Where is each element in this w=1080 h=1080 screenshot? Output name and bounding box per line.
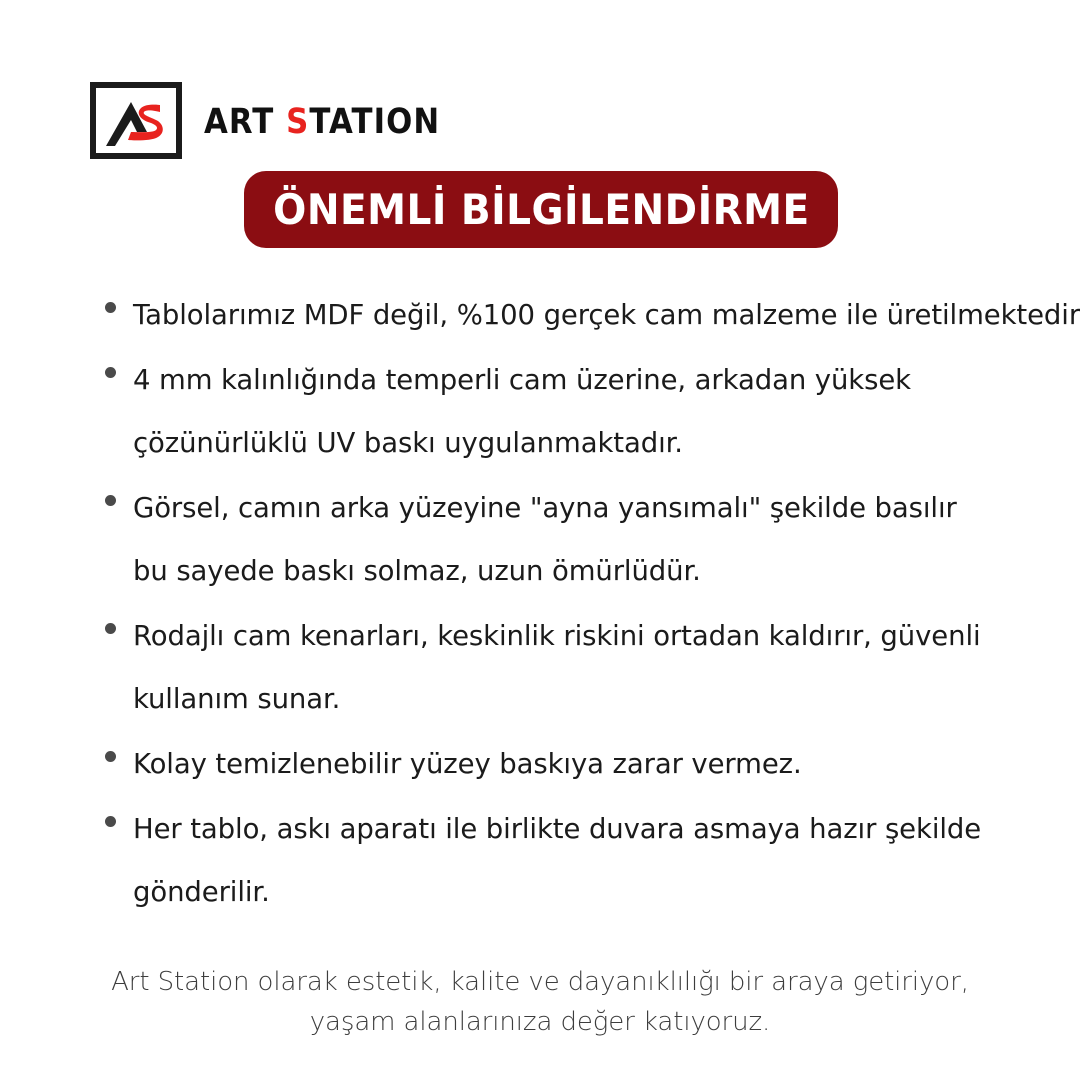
bullet-dot-icon xyxy=(105,816,116,827)
list-item-text: Rodajlı cam kenarları, keskinlik riskini… xyxy=(133,605,1030,668)
info-poster: ART STATION ÖNEMLİ BİLGİLENDİRME Tablola… xyxy=(0,0,1080,1080)
list-item: Her tablo, askı aparatı ile birlikte duv… xyxy=(100,798,1030,924)
list-item: Rodajlı cam kenarları, keskinlik riskini… xyxy=(100,605,1030,731)
list-item-text: kullanım sunar. xyxy=(133,668,1030,731)
bullet-dot-icon xyxy=(105,367,116,378)
wordmark-part-1: ART xyxy=(204,102,286,142)
list-item-text: bu sayede baskı solmaz, uzun ömürlüdür. xyxy=(133,540,1030,603)
brand-wordmark: ART STATION xyxy=(204,101,440,140)
list-item: Kolay temizlenebilir yüzey baskıya zarar… xyxy=(100,733,1030,796)
art-station-logo-icon xyxy=(90,82,182,159)
list-item-text: Görsel, camın arka yüzeyine "ayna yansım… xyxy=(133,477,1030,540)
info-bullet-list: Tablolarımız MDF değil, %100 gerçek cam … xyxy=(100,284,1030,926)
bullet-dot-icon xyxy=(105,302,116,313)
list-item-text: Her tablo, askı aparatı ile birlikte duv… xyxy=(133,798,1030,861)
list-item: 4 mm kalınlığında temperli cam üzerine, … xyxy=(100,349,1030,475)
brand-header: ART STATION xyxy=(90,82,472,159)
title-banner: ÖNEMLİ BİLGİLENDİRME xyxy=(244,171,838,248)
footer-line: Art Station olarak estetik, kalite ve da… xyxy=(0,962,1080,1002)
list-item: Tablolarımız MDF değil, %100 gerçek cam … xyxy=(100,284,1030,347)
bullet-dot-icon xyxy=(105,495,116,506)
list-item-text: 4 mm kalınlığında temperli cam üzerine, … xyxy=(133,349,1030,412)
list-item-text: çözünürlüklü UV baskı uygulanmaktadır. xyxy=(133,412,1030,475)
wordmark-accent-letter: S xyxy=(286,102,309,142)
banner-title: ÖNEMLİ BİLGİLENDİRME xyxy=(273,189,809,231)
footer-line: yaşam alanlarınıza değer katıyoruz. xyxy=(0,1002,1080,1042)
wordmark-part-2: TATION xyxy=(309,102,440,142)
list-item-text: gönderilir. xyxy=(133,861,1030,924)
bullet-dot-icon xyxy=(105,751,116,762)
list-item: Görsel, camın arka yüzeyine "ayna yansım… xyxy=(100,477,1030,603)
bullet-dot-icon xyxy=(105,623,116,634)
list-item-text: Kolay temizlenebilir yüzey baskıya zarar… xyxy=(133,733,1030,796)
list-item-text: Tablolarımız MDF değil, %100 gerçek cam … xyxy=(133,284,1030,347)
footer-tagline: Art Station olarak estetik, kalite ve da… xyxy=(0,962,1080,1042)
